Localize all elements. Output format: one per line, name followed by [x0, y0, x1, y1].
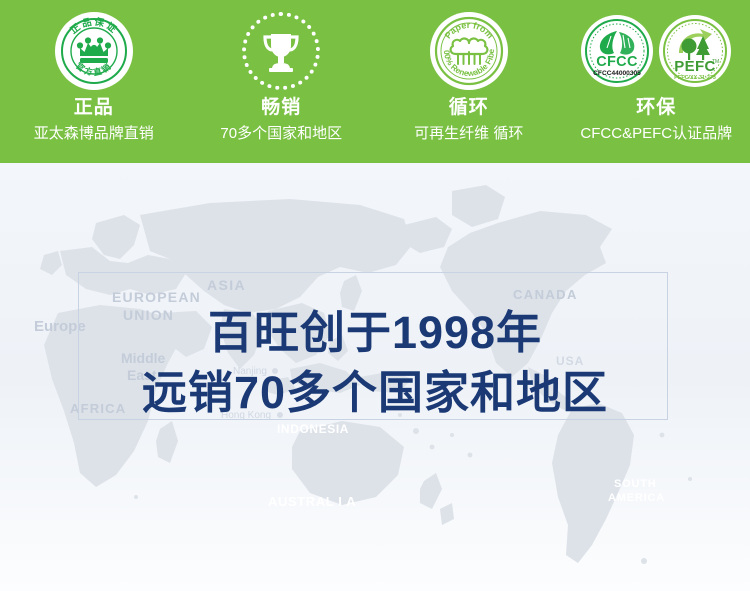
map-label-south: SOUTH: [614, 478, 657, 490]
feature-title: 正品: [74, 98, 114, 117]
trophy-svg: [255, 25, 307, 77]
feature-item-bestseller: 畅销 70多个国家和地区: [188, 0, 376, 141]
pefc-label: PEFC: [674, 58, 716, 75]
map-label-america: AMERICA: [608, 492, 665, 504]
promo-banner: 正品保证 官方直销 正品 亚太森博品牌直销: [0, 0, 750, 591]
trophy-seal-ring: [242, 12, 320, 90]
feature-title: 环保: [636, 98, 676, 117]
feature-subtitle: 70多个国家和地区: [220, 126, 342, 141]
crown-seal-circle: 正品保证 官方直销: [55, 12, 133, 90]
crown-seal-svg: 正品保证 官方直销: [55, 12, 133, 90]
pefc-tm: TM: [712, 59, 719, 65]
headline-line-1: 百旺创于1998年: [0, 303, 750, 363]
pefc-logo-icon: PEFC TM PEFC/XX-31-273: [659, 15, 731, 87]
feature-subtitle: CFCC&PEFC认证品牌: [580, 126, 732, 141]
cfcc-logo-icon: CFCC CFCC44000305: [581, 15, 653, 87]
renewable-paper-seal-icon: Paper from 100% Renewable Fiber: [430, 10, 508, 92]
feature-subtitle: 可再生纤维 循环: [414, 126, 523, 141]
headline-block: 百旺创于1998年 远销70多个国家和地区: [0, 303, 750, 423]
feature-title: 循环: [449, 98, 489, 117]
feature-item-renewable: Paper from 100% Renewable Fiber 循环 可再生纤维…: [375, 0, 563, 141]
cfcc-label: CFCC: [597, 54, 639, 70]
cfcc-svg: CFCC CFCC44000305: [581, 15, 653, 87]
headline-line-2: 远销70多个国家和地区: [0, 363, 750, 423]
feature-subtitle: 亚太森博品牌直销: [34, 126, 154, 141]
pefc-svg: PEFC TM PEFC/XX-31-273: [659, 15, 731, 87]
world-map-section: EUROPEAN UNION ASIA CANADA Europe Middle…: [0, 163, 750, 591]
pefc-code: PEFC/XX-31-273: [674, 75, 716, 81]
renewable-seal-svg: Paper from 100% Renewable Fiber: [430, 12, 508, 90]
map-label-canada: CANADA: [513, 287, 578, 302]
certification-seals: CFCC CFCC44000305: [581, 10, 731, 92]
feature-bar: 正品保证 官方直销 正品 亚太森博品牌直销: [0, 0, 750, 163]
map-label-indonesia: INDONESIA: [277, 422, 349, 436]
feature-item-authentic: 正品保证 官方直销 正品 亚太森博品牌直销: [0, 0, 188, 141]
trophy-seal-icon: [242, 10, 320, 92]
cfcc-code: CFCC44000305: [593, 70, 641, 77]
feature-title: 畅销: [261, 98, 301, 117]
renewable-seal-circle: Paper from 100% Renewable Fiber: [430, 12, 508, 90]
feature-item-eco: CFCC CFCC44000305: [563, 0, 750, 141]
map-label-australia: AUSTRAL I A: [268, 494, 356, 509]
crown-seal-icon: 正品保证 官方直销: [55, 10, 133, 92]
map-label-asia: ASIA: [207, 277, 246, 293]
